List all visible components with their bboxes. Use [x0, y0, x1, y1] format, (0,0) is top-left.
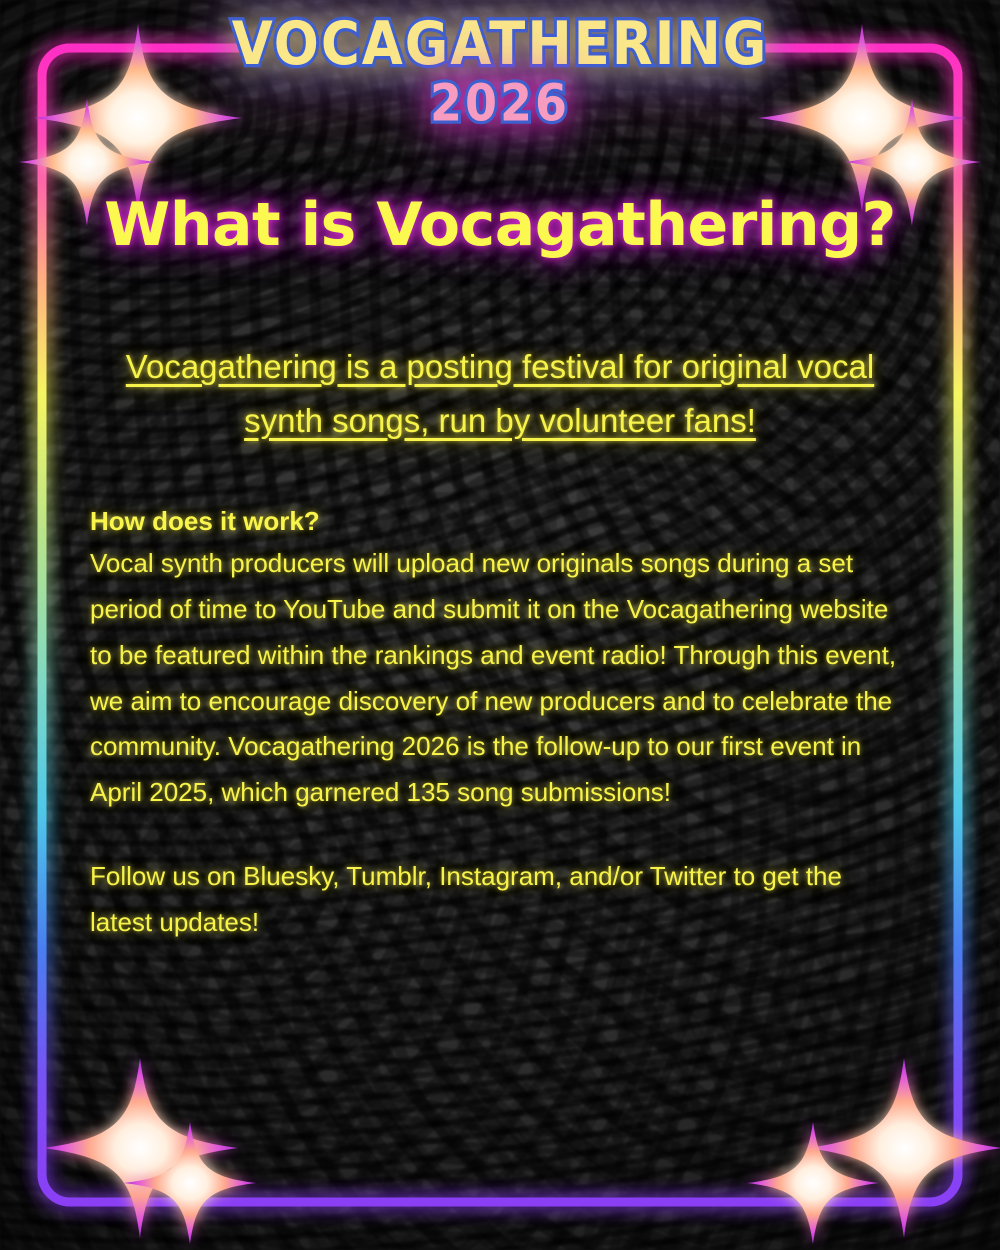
- footer-note-follow-us: Follow us on Bluesky, Tumblr, Instagram,…: [90, 854, 910, 946]
- section-heading-how-does-it-work: How does it work?: [90, 504, 910, 540]
- content-column: Vocagathering is a posting festival for …: [90, 340, 910, 945]
- poster-root: VOCAGATHERING 2026 What is Vocagathering…: [0, 0, 1000, 1250]
- event-logo: VOCAGATHERING 2026: [0, 18, 1000, 126]
- tagline: Vocagathering is a posting festival for …: [90, 340, 910, 448]
- logo-year: 2026: [0, 78, 1000, 129]
- section-body-how-does-it-work: Vocal synth producers will upload new or…: [90, 541, 910, 816]
- page-title: What is Vocagathering?: [0, 194, 1000, 258]
- logo-wordmark: VOCAGATHERING: [0, 15, 1000, 74]
